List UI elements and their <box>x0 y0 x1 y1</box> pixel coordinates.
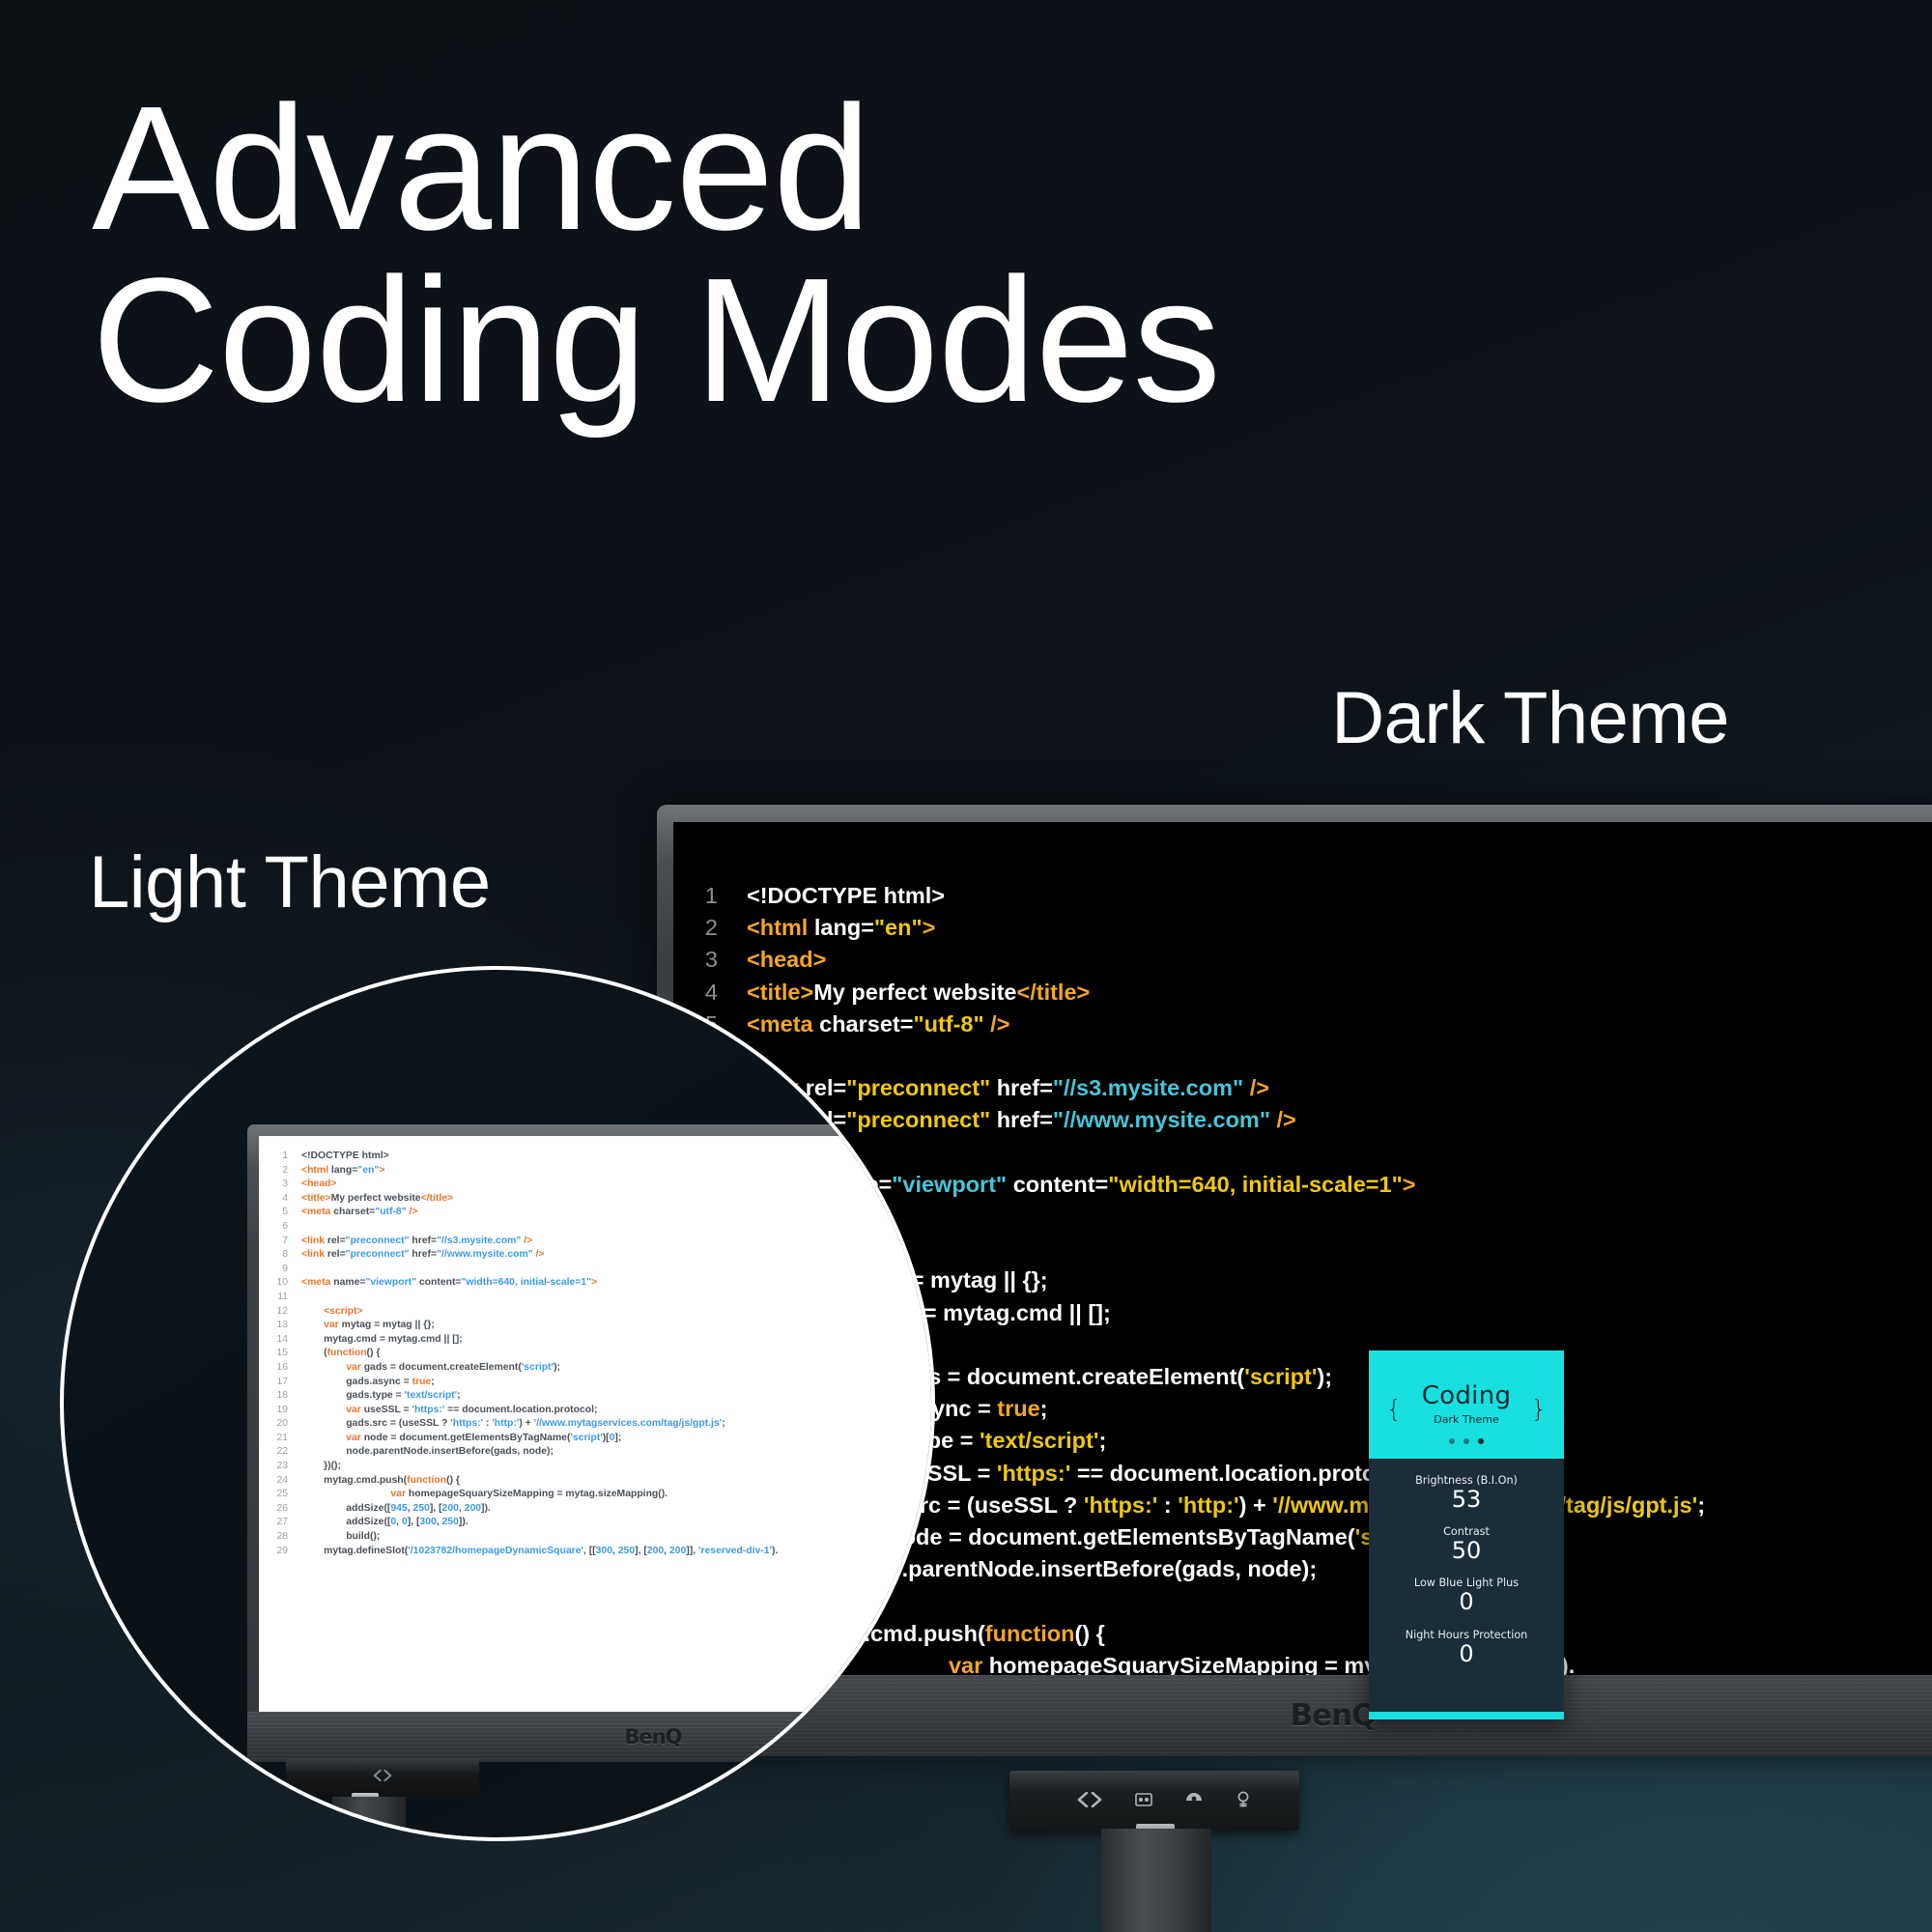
code-line-content: build(); <box>301 1530 380 1545</box>
line-number: 14 <box>267 1333 288 1348</box>
color-mode-icon[interactable] <box>1236 1790 1251 1811</box>
code-line: 20 gads.src = (useSSL ? 'https:' : 'http… <box>267 1417 778 1432</box>
code-line-content: var mytag = mytag || {}; <box>301 1319 435 1333</box>
code-line: 14 mytag.cmd = mytag.cmd || []; <box>267 1333 778 1348</box>
code-line: 19 var useSSL = 'https:' == document.loc… <box>267 1404 778 1418</box>
line-number: 16 <box>267 1361 288 1376</box>
code-line-content: gads.async = true; <box>301 1376 435 1390</box>
code-line-content: mytag.defineSlot('/1023782/homepageDynam… <box>301 1545 778 1559</box>
code-line: 15 (function() { <box>267 1347 778 1361</box>
osd-mode-name: Coding <box>1422 1383 1512 1409</box>
line-number: 9 <box>267 1263 288 1277</box>
code-line-content: <html lang="en"> <box>747 912 935 944</box>
line-number: 17 <box>267 1376 288 1390</box>
brace-left-icon: { <box>1386 1395 1402 1423</box>
line-number: 21 <box>267 1432 288 1446</box>
code-line: 12 <script> <box>267 1305 778 1320</box>
input-source-icon[interactable] <box>1135 1790 1152 1811</box>
code-line-content: var useSSL = 'https:' == document.locati… <box>301 1404 597 1418</box>
monitor-stand <box>332 1797 406 1841</box>
code-line: 13 var mytag = mytag || {}; <box>267 1319 778 1333</box>
line-number: 22 <box>267 1445 288 1460</box>
line-number: 19 <box>267 1404 288 1418</box>
code-line-content: addSize([945, 250], [200, 200]). <box>301 1502 491 1517</box>
line-number: 1 <box>267 1150 288 1164</box>
line-number: 29 <box>267 1545 288 1559</box>
code-line: 16 var gads = document.createElement('sc… <box>267 1361 778 1376</box>
line-number: 4 <box>267 1192 288 1207</box>
code-line-content: <link rel="preconnect" href="//www.mysit… <box>301 1248 545 1263</box>
code-line: 21 var node = document.getElementsByTagN… <box>267 1432 778 1446</box>
osd-accent-bar <box>1369 1712 1564 1719</box>
code-line: 24 mytag.cmd.push(function() { <box>267 1474 778 1489</box>
line-number: 7 <box>267 1235 288 1249</box>
code-line: 9 <box>267 1263 778 1277</box>
code-line: 5<meta charset="utf-8" /> <box>267 1206 778 1220</box>
osd-page-dots[interactable] <box>1369 1438 1564 1444</box>
line-number: 4 <box>673 977 718 1009</box>
code-line: 7<link rel="preconnect" href="//s3.mysit… <box>267 1235 778 1249</box>
line-number: 20 <box>267 1417 288 1432</box>
code-line: 8<link rel="preconnect" href="//www.mysi… <box>267 1248 778 1263</box>
code-line: 28 build(); <box>267 1530 778 1545</box>
osd-mode-theme: Dark Theme <box>1434 1413 1499 1426</box>
code-line: 25 var homepageSquarySizeMapping = mytag… <box>267 1488 778 1502</box>
code-line-content: <script> <box>301 1305 363 1320</box>
code-line: 27 addSize([0, 0], [300, 250]). <box>267 1516 778 1530</box>
code-line: 6 <box>267 1220 778 1235</box>
line-number: 25 <box>267 1488 288 1502</box>
code-line: 6 <box>673 1040 1825 1072</box>
benq-logo: BenQ <box>624 1725 681 1748</box>
line-number: 15 <box>267 1347 288 1361</box>
code-line: 4<title>My perfect website</title> <box>267 1192 778 1207</box>
code-line-content: <head> <box>747 944 826 976</box>
code-line: 7<link rel="preconnect" href="//s3.mysit… <box>673 1072 1825 1104</box>
code-line: 10<meta name="viewport" content="width=6… <box>267 1276 778 1291</box>
code-line-content: <link rel="preconnect" href="//s3.mysite… <box>301 1235 532 1249</box>
line-number: 12 <box>267 1305 288 1320</box>
code-line-content: <!DOCTYPE html> <box>747 880 945 912</box>
magnifier-circle: 1<!DOCTYPE html>2<html lang="en">3<head>… <box>60 966 935 1841</box>
code-line-content: addSize([0, 0], [300, 250]). <box>301 1516 469 1530</box>
code-line-content: (function() { <box>301 1347 380 1361</box>
line-number: 24 <box>267 1474 288 1489</box>
line-number: 3 <box>673 944 718 976</box>
code-line-content: <link rel="preconnect" href="//s3.mysite… <box>747 1072 1269 1104</box>
line-number: 2 <box>673 912 718 944</box>
code-line-content: })(); <box>301 1460 341 1474</box>
code-line: 29 mytag.defineSlot('/1023782/homepageDy… <box>267 1545 778 1559</box>
light-theme-monitor: 1<!DOCTYPE html>2<html lang="en">3<head>… <box>247 1124 935 1762</box>
osd-page-dot[interactable] <box>1463 1438 1469 1444</box>
code-line: 17 gads.async = true; <box>267 1376 778 1390</box>
eye-care-icon[interactable] <box>1185 1790 1203 1811</box>
osd-header: { } Coding Dark Theme <box>1369 1350 1564 1459</box>
osd-setting-item[interactable]: Brightness (B.I.On)53 <box>1375 1474 1558 1512</box>
osd-page-dot[interactable] <box>1449 1438 1455 1444</box>
code-line-content: gads.type = 'text/script'; <box>301 1389 461 1404</box>
code-line: 4<title>My perfect website</title> <box>673 977 1825 1009</box>
poster-stage: Advanced Coding Modes Dark Theme Light T… <box>0 0 1932 1932</box>
code-line-content: <!DOCTYPE html> <box>301 1150 389 1164</box>
line-number: 5 <box>267 1206 288 1220</box>
brace-right-icon: } <box>1531 1395 1547 1423</box>
osd-setting-value: 0 <box>1375 1642 1558 1666</box>
code-line: 5<meta charset="utf-8" /> <box>673 1009 1825 1040</box>
line-number: 18 <box>267 1389 288 1404</box>
osd-settings-list: Brightness (B.I.On)53Contrast50Low Blue … <box>1369 1459 1564 1666</box>
code-line: 18 gads.type = 'text/script'; <box>267 1389 778 1404</box>
monitor-stand <box>1101 1829 1211 1932</box>
line-number: 27 <box>267 1516 288 1530</box>
line-number: 1 <box>673 880 718 912</box>
code-line-content: mytag.cmd = mytag.cmd || []; <box>301 1333 463 1348</box>
code-line-content <box>301 1263 304 1277</box>
code-line-content: gads.src = (useSSL ? 'https:' : 'http:')… <box>301 1417 725 1432</box>
monitor-control-strip[interactable] <box>286 1758 479 1797</box>
code-line: 2<html lang="en"> <box>267 1164 778 1179</box>
osd-setting-value: 53 <box>1375 1488 1558 1512</box>
light-theme-label: Light Theme <box>89 840 491 924</box>
benq-logo: BenQ <box>1290 1698 1376 1733</box>
code-line-content <box>301 1291 304 1305</box>
code-toggle-icon[interactable] <box>373 1770 392 1785</box>
code-line-content <box>301 1220 304 1235</box>
monitor-bottom-bezel: BenQ <box>247 1712 935 1762</box>
code-line-content: <html lang="en"> <box>301 1164 384 1179</box>
code-editor-light: 1<!DOCTYPE html>2<html lang="en">3<head>… <box>267 1150 778 1558</box>
code-line-content: <head> <box>301 1178 336 1192</box>
code-line-content: var node = document.getElementsByTagName… <box>301 1432 621 1446</box>
line-number: 3 <box>267 1178 288 1192</box>
code-line: 26 addSize([945, 250], [200, 200]). <box>267 1502 778 1517</box>
code-line-content: node.parentNode.insertBefore(gads, node)… <box>301 1445 554 1460</box>
line-number: 6 <box>267 1220 288 1235</box>
osd-panel[interactable]: { } Coding Dark Theme Brightness (B.I.On… <box>1369 1350 1564 1719</box>
osd-setting-value: 50 <box>1375 1539 1558 1563</box>
code-line: 3<head> <box>673 944 1825 976</box>
code-line: 23 })(); <box>267 1460 778 1474</box>
osd-setting-value: 0 <box>1375 1590 1558 1614</box>
code-line-content: <meta charset="utf-8" /> <box>301 1206 417 1220</box>
line-number: 28 <box>267 1530 288 1545</box>
line-number: 8 <box>267 1248 288 1263</box>
monitor-control-strip[interactable] <box>1009 1771 1299 1831</box>
line-number: 11 <box>267 1291 288 1305</box>
code-line: 2<html lang="en"> <box>673 912 1825 944</box>
code-line-content: var homepageSquarySizeMapping = mytag.si… <box>301 1488 668 1502</box>
code-line-content: <meta name="viewport" content="width=640… <box>301 1276 597 1291</box>
code-line: 3<head> <box>267 1178 778 1192</box>
line-number: 23 <box>267 1460 288 1474</box>
page-title: Advanced Coding Modes <box>92 82 1220 425</box>
osd-setting-item[interactable]: Night Hours Protection0 <box>1375 1629 1558 1666</box>
code-line-content: <title>My perfect website</title> <box>747 977 1090 1009</box>
code-line: 1<!DOCTYPE html> <box>673 880 1825 912</box>
line-number: 2 <box>267 1164 288 1179</box>
code-line-content: mytag.cmd.push(function() { <box>301 1474 460 1489</box>
code-line-content: var gads = document.createElement('scrip… <box>301 1361 560 1376</box>
light-monitor-screen: 1<!DOCTYPE html>2<html lang="en">3<head>… <box>259 1136 935 1712</box>
code-line: 1<!DOCTYPE html> <box>267 1150 778 1164</box>
osd-page-dot[interactable] <box>1478 1438 1484 1444</box>
code-line: 22 node.parentNode.insertBefore(gads, no… <box>267 1445 778 1460</box>
osd-setting-item[interactable]: Low Blue Light Plus0 <box>1375 1577 1558 1614</box>
osd-setting-label: Night Hours Protection <box>1375 1629 1558 1641</box>
line-number: 26 <box>267 1502 288 1517</box>
code-line-content: <title>My perfect website</title> <box>301 1192 453 1207</box>
osd-setting-item[interactable]: Contrast50 <box>1375 1525 1558 1563</box>
code-line: 11 <box>267 1291 778 1305</box>
dark-theme-label: Dark Theme <box>1331 676 1729 760</box>
code-toggle-icon[interactable] <box>1077 1790 1102 1811</box>
code-line-content: <meta charset="utf-8" /> <box>747 1009 1009 1040</box>
line-number: 10 <box>267 1276 288 1291</box>
line-number: 13 <box>267 1319 288 1333</box>
